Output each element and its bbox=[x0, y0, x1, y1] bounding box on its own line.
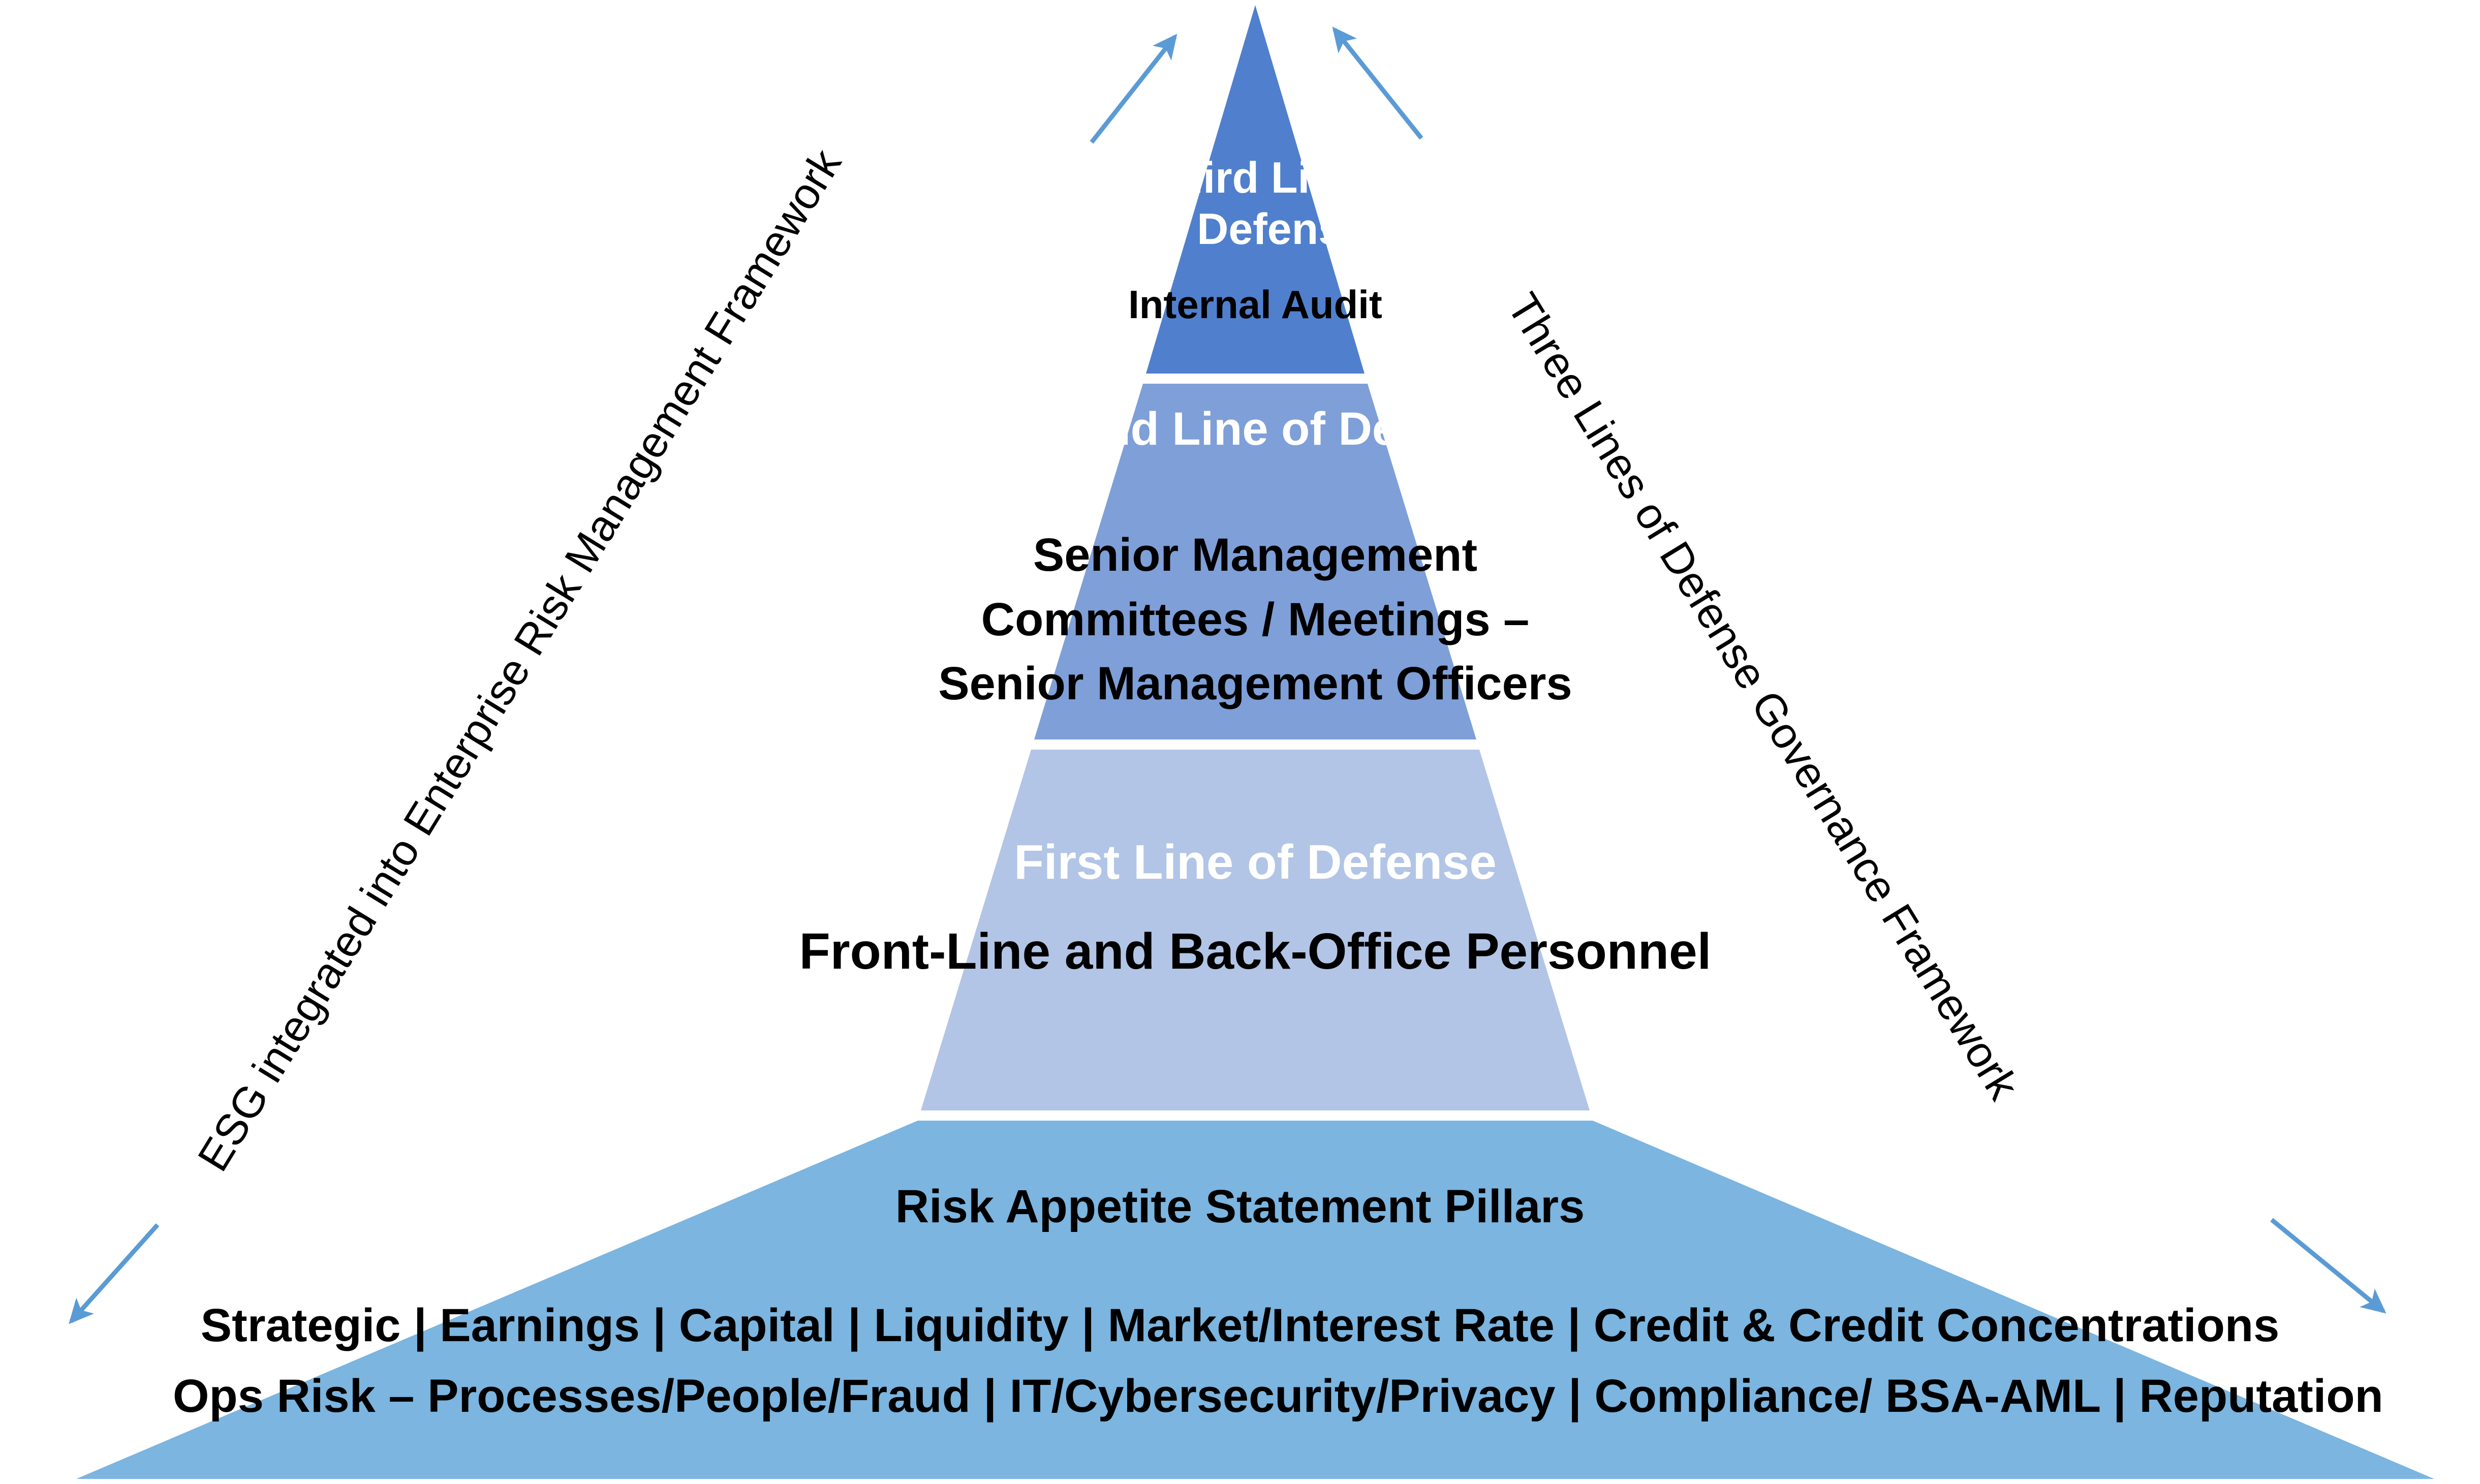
risk-pillars-list: Strategic | Earnings | Capital | Liquidi… bbox=[173, 1290, 2307, 1433]
tier-3-subtitle: Internal Audit bbox=[1001, 281, 1509, 328]
tier-3-text-block: Third Line of Defense Internal Audit bbox=[1001, 152, 1509, 328]
tier-1-heading: First Line of Defense bbox=[574, 833, 1936, 891]
top-left-arrow bbox=[1092, 37, 1175, 142]
tier-1-body-line1: Front-Line and Back-Office Personnel bbox=[574, 921, 1936, 981]
tier-base-heading: Risk Appetite Statement Pillars bbox=[173, 1179, 2307, 1234]
tier-3-heading-line1: Third Line bbox=[1001, 152, 1509, 204]
pyramid-diagram-canvas: Third Line of Defense Internal Audit Sec… bbox=[0, 0, 2480, 1484]
tier-2-body: Senior Management Committees / Meetings … bbox=[772, 523, 1738, 717]
risk-pillars-line2: Ops Risk – Processes/People/Fraud | IT/C… bbox=[173, 1361, 2307, 1432]
risk-pillars-line1: Strategic | Earnings | Capital | Liquidi… bbox=[173, 1290, 2307, 1362]
tier-2-body-line3: Senior Management Officers bbox=[772, 652, 1738, 716]
tier-2-body-line1: Senior Management bbox=[772, 523, 1738, 588]
bottom-left-arrow bbox=[71, 1225, 158, 1321]
top-right-arrow bbox=[1335, 29, 1421, 138]
tier-base-text-block: Risk Appetite Statement Pillars Strategi… bbox=[173, 1179, 2307, 1432]
tier-3-heading-line2: of Defense bbox=[1001, 204, 1509, 255]
tier-1-text-block: First Line of Defense Front-Line and Bac… bbox=[574, 833, 1936, 981]
tier-2-body-line2: Committees / Meetings – bbox=[772, 588, 1738, 652]
